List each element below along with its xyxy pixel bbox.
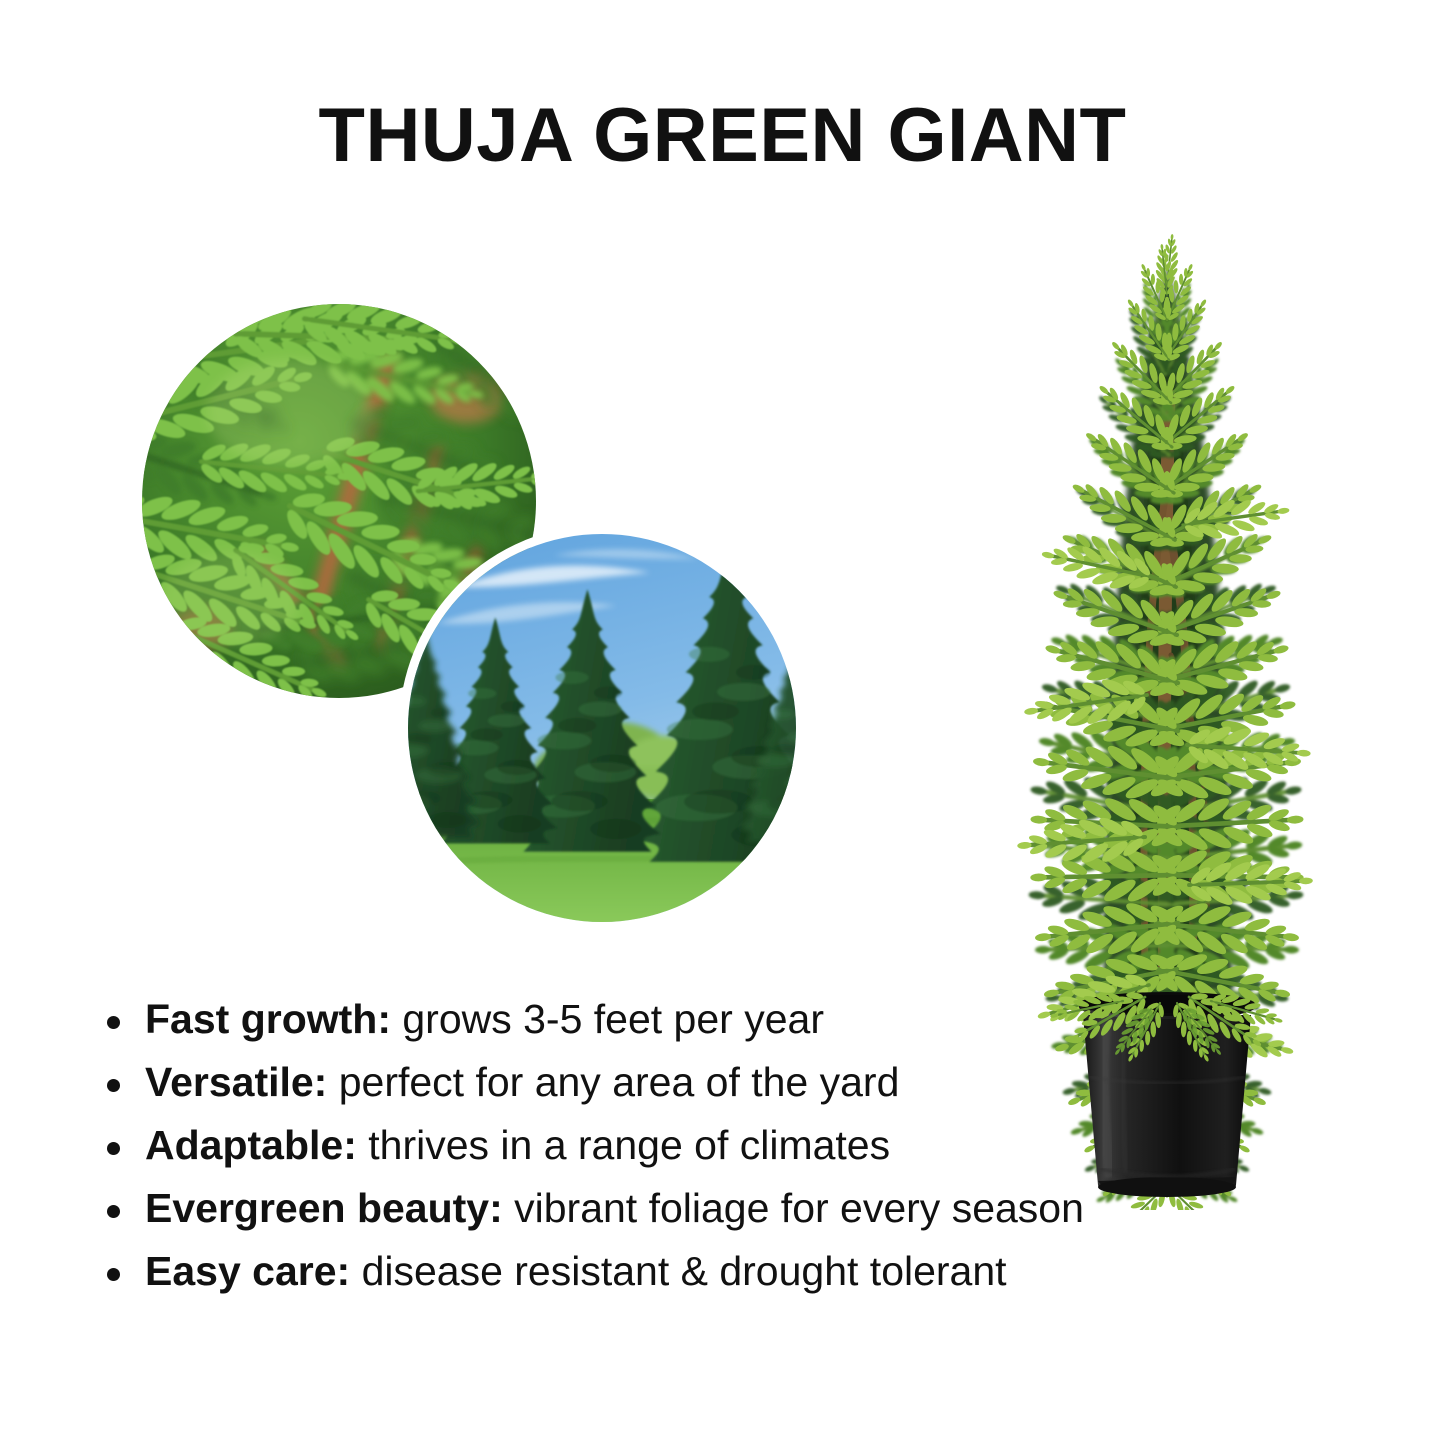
list-item: Easy care: disease resistant & drought t…: [95, 1240, 1325, 1303]
feature-lead: Easy care:: [145, 1248, 350, 1294]
feature-rest: thrives in a range of climates: [357, 1122, 890, 1168]
list-item: Adaptable: thrives in a range of climate…: [95, 1114, 1325, 1177]
feature-lead: Fast growth:: [145, 996, 391, 1042]
feature-lead: Versatile:: [145, 1059, 327, 1105]
list-item: Fast growth: grows 3-5 feet per year: [95, 988, 1325, 1051]
list-item: Evergreen beauty: vibrant foliage for ev…: [95, 1177, 1325, 1240]
feature-list: Fast growth: grows 3-5 feet per year Ver…: [95, 988, 1325, 1303]
landscape-illustration: [408, 534, 796, 922]
list-item: Versatile: perfect for any area of the y…: [95, 1051, 1325, 1114]
feature-rest: grows 3-5 feet per year: [391, 996, 824, 1042]
page-title: THUJA GREEN GIANT: [0, 98, 1445, 174]
feature-rest: perfect for any area of the yard: [327, 1059, 899, 1105]
feature-lead: Evergreen beauty:: [145, 1185, 503, 1231]
feature-lead: Adaptable:: [145, 1122, 357, 1168]
product-infographic: THUJA GREEN GIANT: [0, 0, 1445, 1445]
feature-rest: disease resistant & drought tolerant: [350, 1248, 1006, 1294]
thuja-hedge-landscape-image: [408, 534, 796, 922]
feature-rest: vibrant foliage for every season: [503, 1185, 1084, 1231]
